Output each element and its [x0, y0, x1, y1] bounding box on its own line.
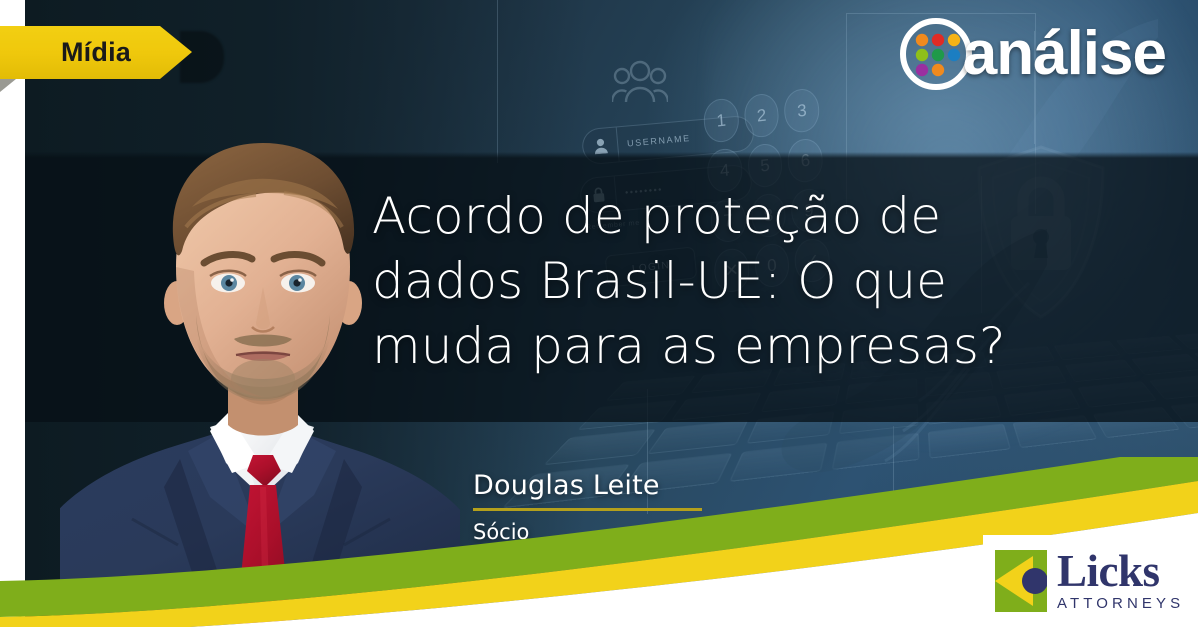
publisher-logo[interactable]: análise — [897, 17, 1166, 91]
category-ribbon-label: Mídia — [61, 37, 131, 68]
headline-line-1: Acordo de proteção de — [372, 184, 1072, 249]
firm-logo[interactable]: Licks ATTORNEYS — [983, 535, 1198, 627]
publisher-wordmark: análise — [963, 23, 1166, 85]
firm-name: Licks — [1057, 550, 1184, 592]
keypad-key[interactable]: 3 — [783, 87, 820, 134]
category-ribbon[interactable]: Mídia — [0, 26, 192, 79]
licks-flag-icon — [995, 550, 1047, 612]
headline: Acordo de proteção de dados Brasil-UE: O… — [372, 184, 1072, 379]
byline-name: Douglas Leite — [473, 470, 702, 508]
media-banner: USERNAME •••••••• Remember me LOGIN 1 2 … — [0, 0, 1198, 627]
people-group-icon — [612, 60, 668, 104]
headline-line-3: muda para as empresas? — [372, 314, 1072, 379]
byline: Douglas Leite Sócio — [473, 470, 702, 544]
licks-wordmark: Licks ATTORNEYS — [1057, 550, 1184, 612]
username-field-label: USERNAME — [618, 133, 691, 149]
hud-line-1 — [497, 0, 498, 163]
firm-subtitle: ATTORNEYS — [1057, 595, 1184, 612]
byline-divider — [473, 508, 702, 511]
left-white-strip — [0, 0, 25, 627]
byline-role: Sócio — [473, 520, 702, 544]
category-ribbon-body[interactable]: Mídia — [0, 26, 192, 79]
headline-line-2: dados Brasil-UE: O que — [372, 249, 1072, 314]
keypad-key[interactable]: 2 — [743, 92, 780, 139]
keypad-key[interactable]: 1 — [702, 97, 739, 144]
